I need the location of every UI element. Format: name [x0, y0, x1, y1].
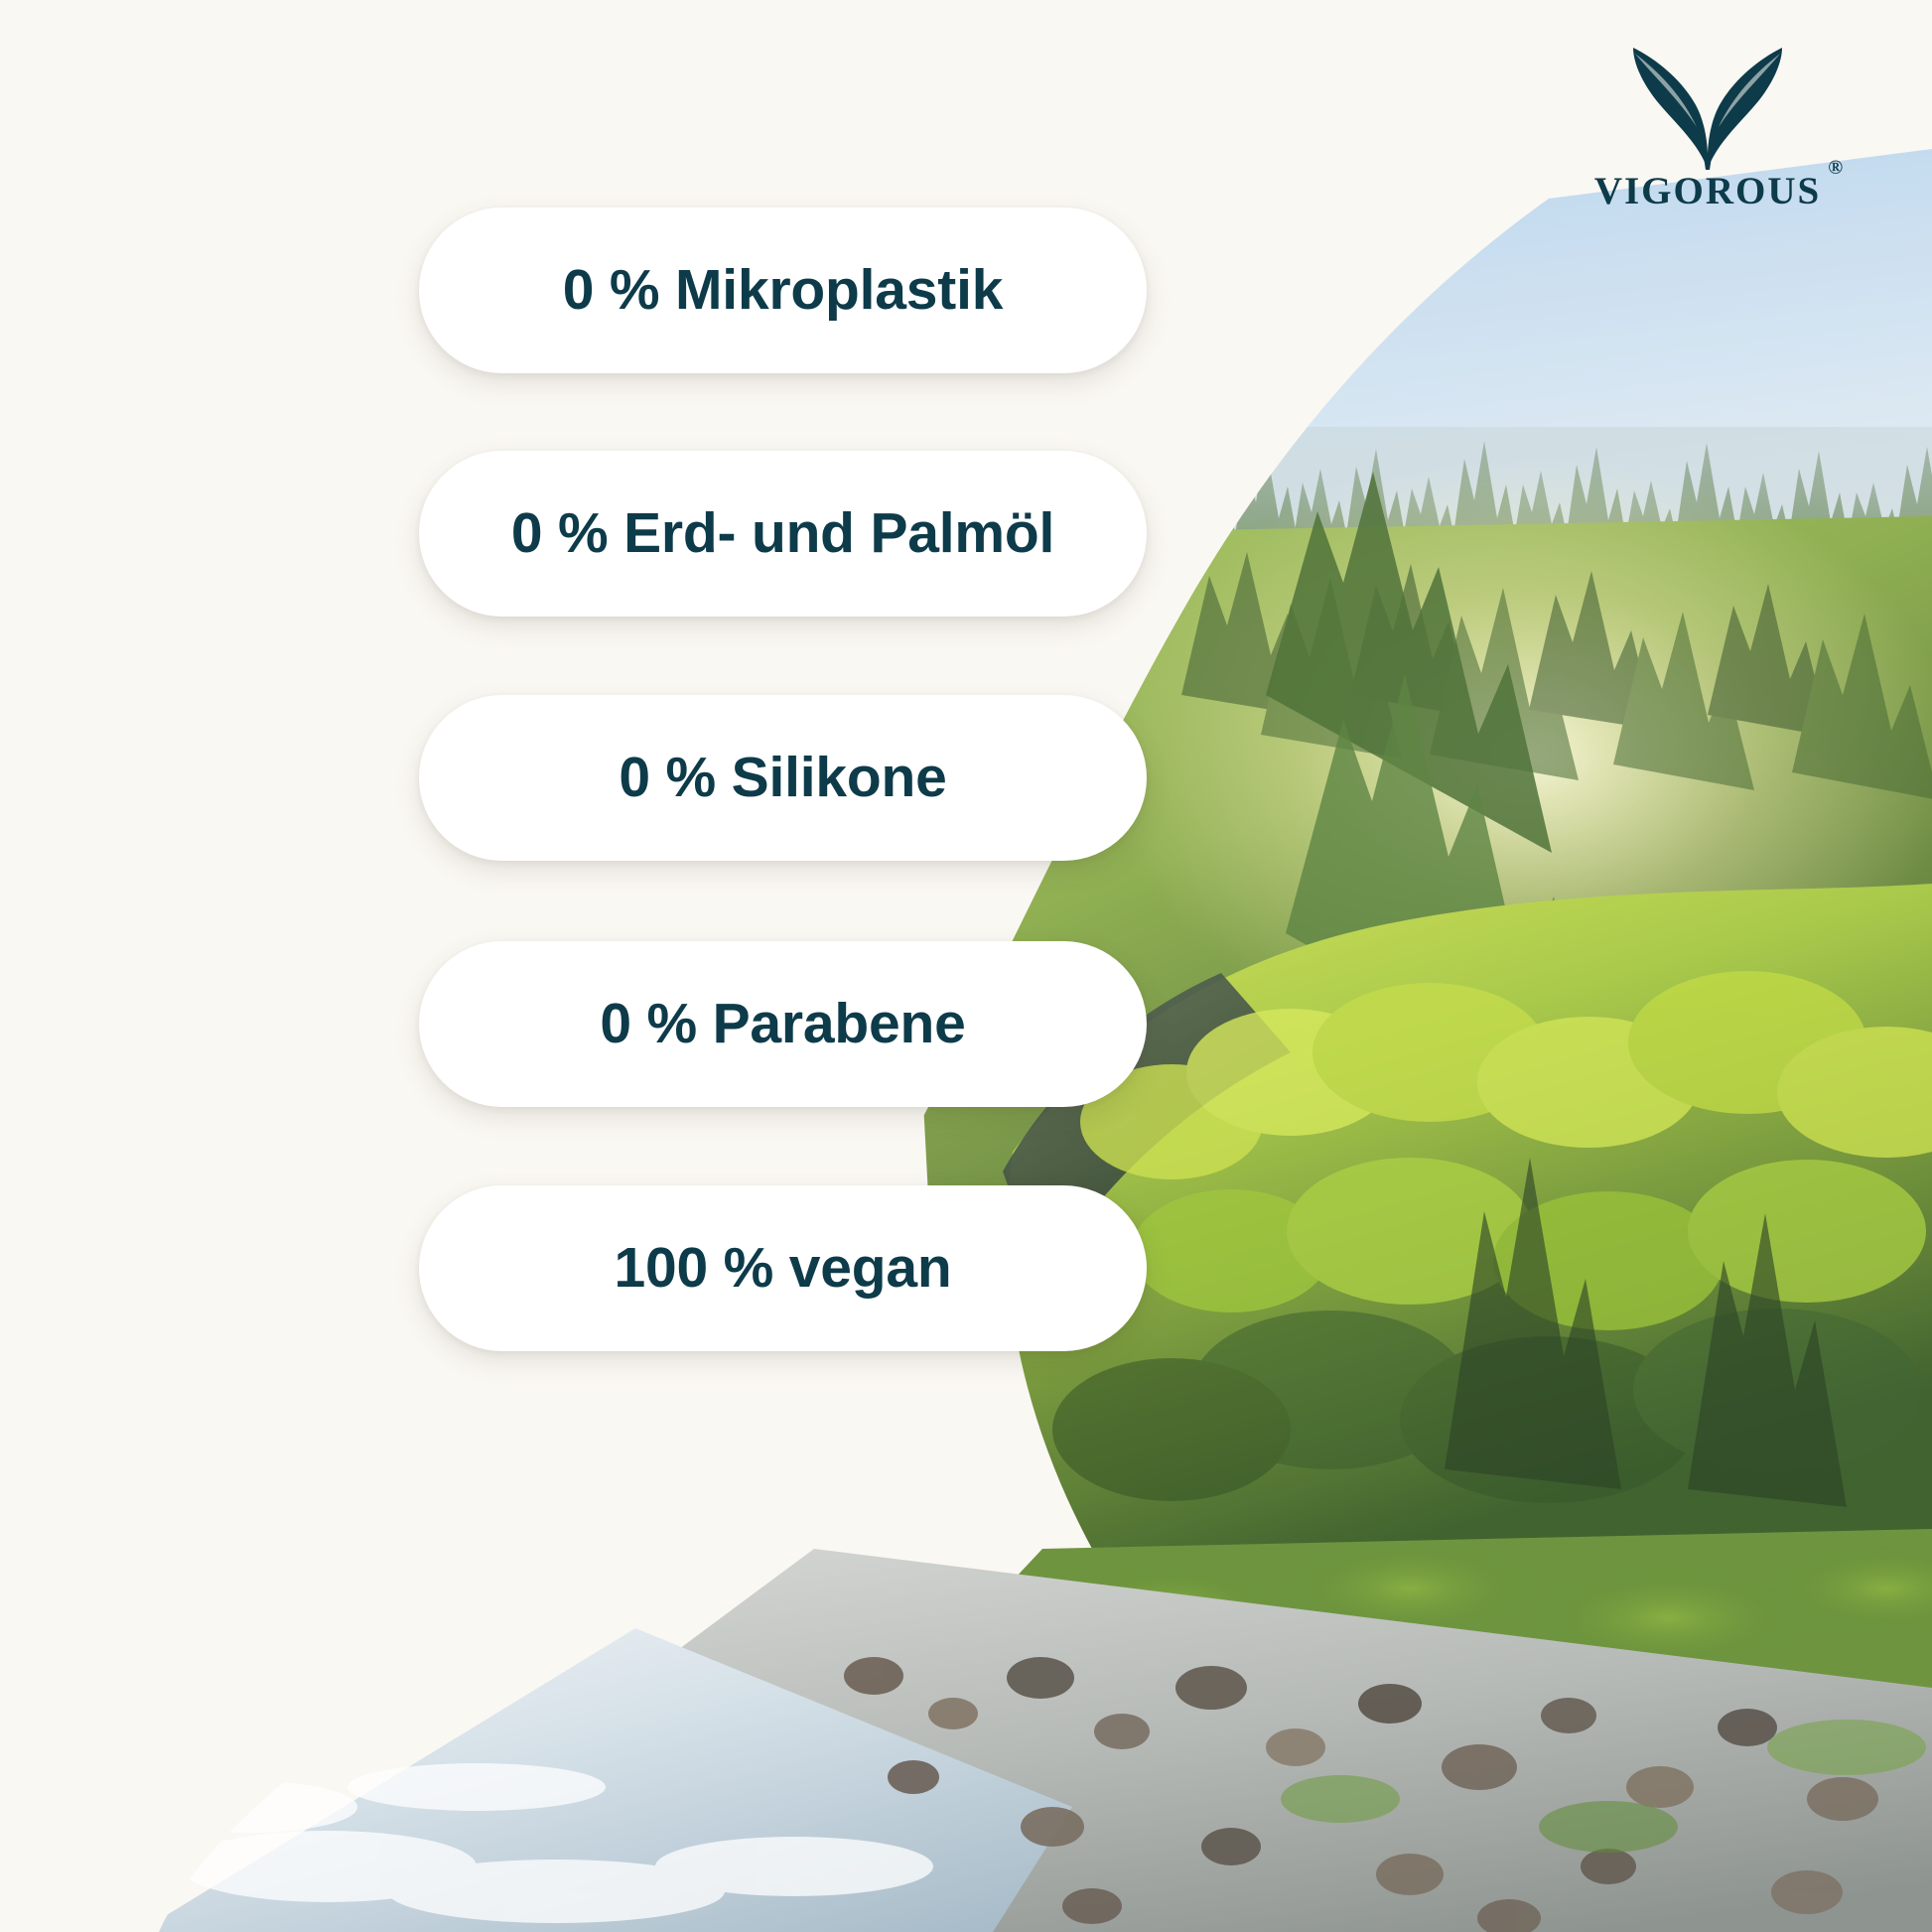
claim-pill-vegan: 100 % vegan	[419, 1185, 1147, 1351]
two-leaves-v-icon	[1613, 46, 1802, 170]
registered-trademark-icon: ®	[1828, 158, 1845, 178]
claim-label: 0 % Erd- und Palmöl	[511, 504, 1054, 564]
poster-canvas: VIGOROUS® 0 % Mikroplastik 0 % Erd- und …	[0, 0, 1932, 1932]
claim-pill-mikroplastik: 0 % Mikroplastik	[419, 207, 1147, 373]
claim-pill-silikone: 0 % Silikone	[419, 695, 1147, 861]
claim-label: 0 % Parabene	[600, 995, 965, 1054]
brand-wordmark: VIGOROUS®	[1594, 172, 1821, 210]
claim-pill-parabene: 0 % Parabene	[419, 941, 1147, 1107]
claim-pill-erd-und-palmoel: 0 % Erd- und Palmöl	[419, 451, 1147, 617]
brand-logo: VIGOROUS®	[1588, 46, 1827, 219]
claim-label: 100 % vegan	[615, 1239, 952, 1299]
brand-name: VIGOROUS	[1594, 170, 1821, 212]
claim-label: 0 % Silikone	[619, 749, 946, 808]
claim-label: 0 % Mikroplastik	[563, 261, 1003, 321]
